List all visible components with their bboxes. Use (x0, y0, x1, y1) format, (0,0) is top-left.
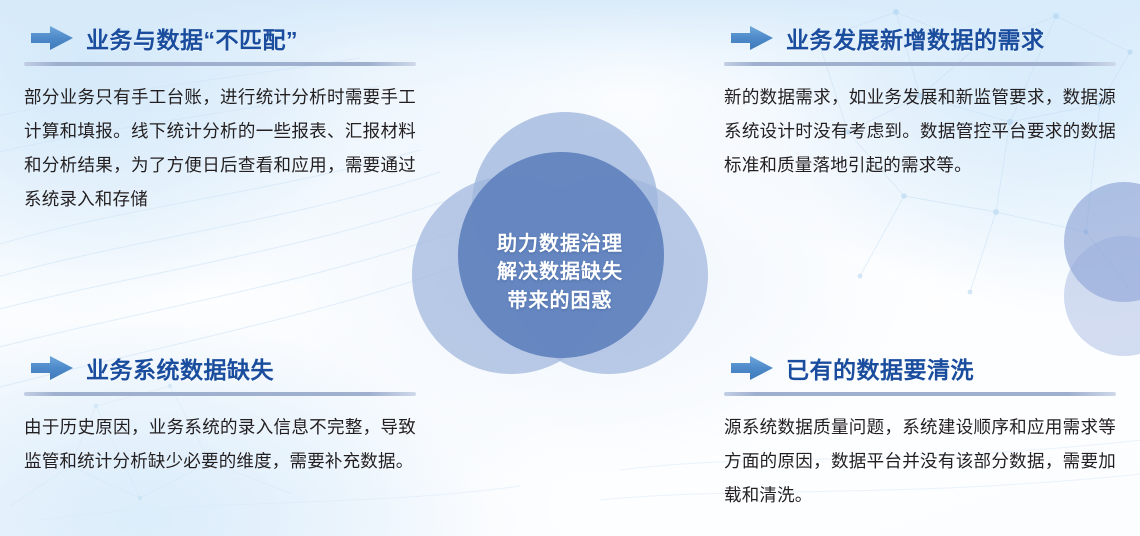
panel-divider (724, 62, 1116, 66)
panel-system-data-missing: 业务系统数据缺失 由于历史原因，业务系统的录入信息不完整，导致监管和统计分析缺少… (24, 348, 416, 478)
panel-header: 业务与数据“不匹配” (24, 18, 416, 58)
center-label-line-1: 助力数据治理 (412, 230, 708, 258)
panel-business-data-mismatch: 业务与数据“不匹配” 部分业务只有手工台账，进行统计分析时需要手工计算和填报。线… (24, 18, 416, 217)
panel-header: 业务系统数据缺失 (24, 348, 416, 388)
panel-existing-data-cleaning: 已有的数据要清洗 源系统数据质量问题，系统建设顺序和应用需求等方面的原因，数据平… (724, 348, 1116, 512)
infographic-slide: 助力数据治理 解决数据缺失 带来的困惑 业务与数据“不匹配” 部分业务只有手工台… (0, 0, 1140, 536)
panel-body-text: 源系统数据质量问题，系统建设顺序和应用需求等方面的原因，数据平台并没有该部分数据… (724, 410, 1116, 512)
panel-divider (24, 392, 416, 396)
panel-title: 已有的数据要清洗 (786, 351, 974, 385)
panel-header: 业务发展新增数据的需求 (724, 18, 1116, 58)
panel-body-text: 新的数据需求，如业务发展和新监管要求，数据源系统设计时没有考虑到。数据管控平台要… (724, 80, 1116, 182)
arrow-right-icon (730, 355, 774, 381)
panel-header: 已有的数据要清洗 (724, 348, 1116, 388)
center-circle-label: 助力数据治理 解决数据缺失 带来的困惑 (412, 230, 708, 315)
panel-title: 业务与数据“不匹配” (86, 21, 298, 55)
panel-body-text: 由于历史原因，业务系统的录入信息不完整，导致监管和统计分析缺少必要的维度，需要补… (24, 410, 416, 478)
center-label-line-2: 解决数据缺失 (412, 258, 708, 286)
panel-title: 业务系统数据缺失 (86, 351, 274, 385)
panel-title: 业务发展新增数据的需求 (786, 21, 1045, 55)
arrow-right-icon (30, 25, 74, 51)
panel-new-data-demand: 业务发展新增数据的需求 新的数据需求，如业务发展和新监管要求，数据源系统设计时没… (724, 18, 1116, 182)
center-label-line-3: 带来的困惑 (412, 287, 708, 315)
center-venn-graphic: 助力数据治理 解决数据缺失 带来的困惑 (412, 112, 708, 408)
panel-divider (724, 392, 1116, 396)
panel-body-text: 部分业务只有手工台账，进行统计分析时需要手工计算和填报。线下统计分析的一些报表、… (24, 80, 416, 217)
panel-divider (24, 62, 416, 66)
arrow-right-icon (30, 355, 74, 381)
arrow-right-icon (730, 25, 774, 51)
